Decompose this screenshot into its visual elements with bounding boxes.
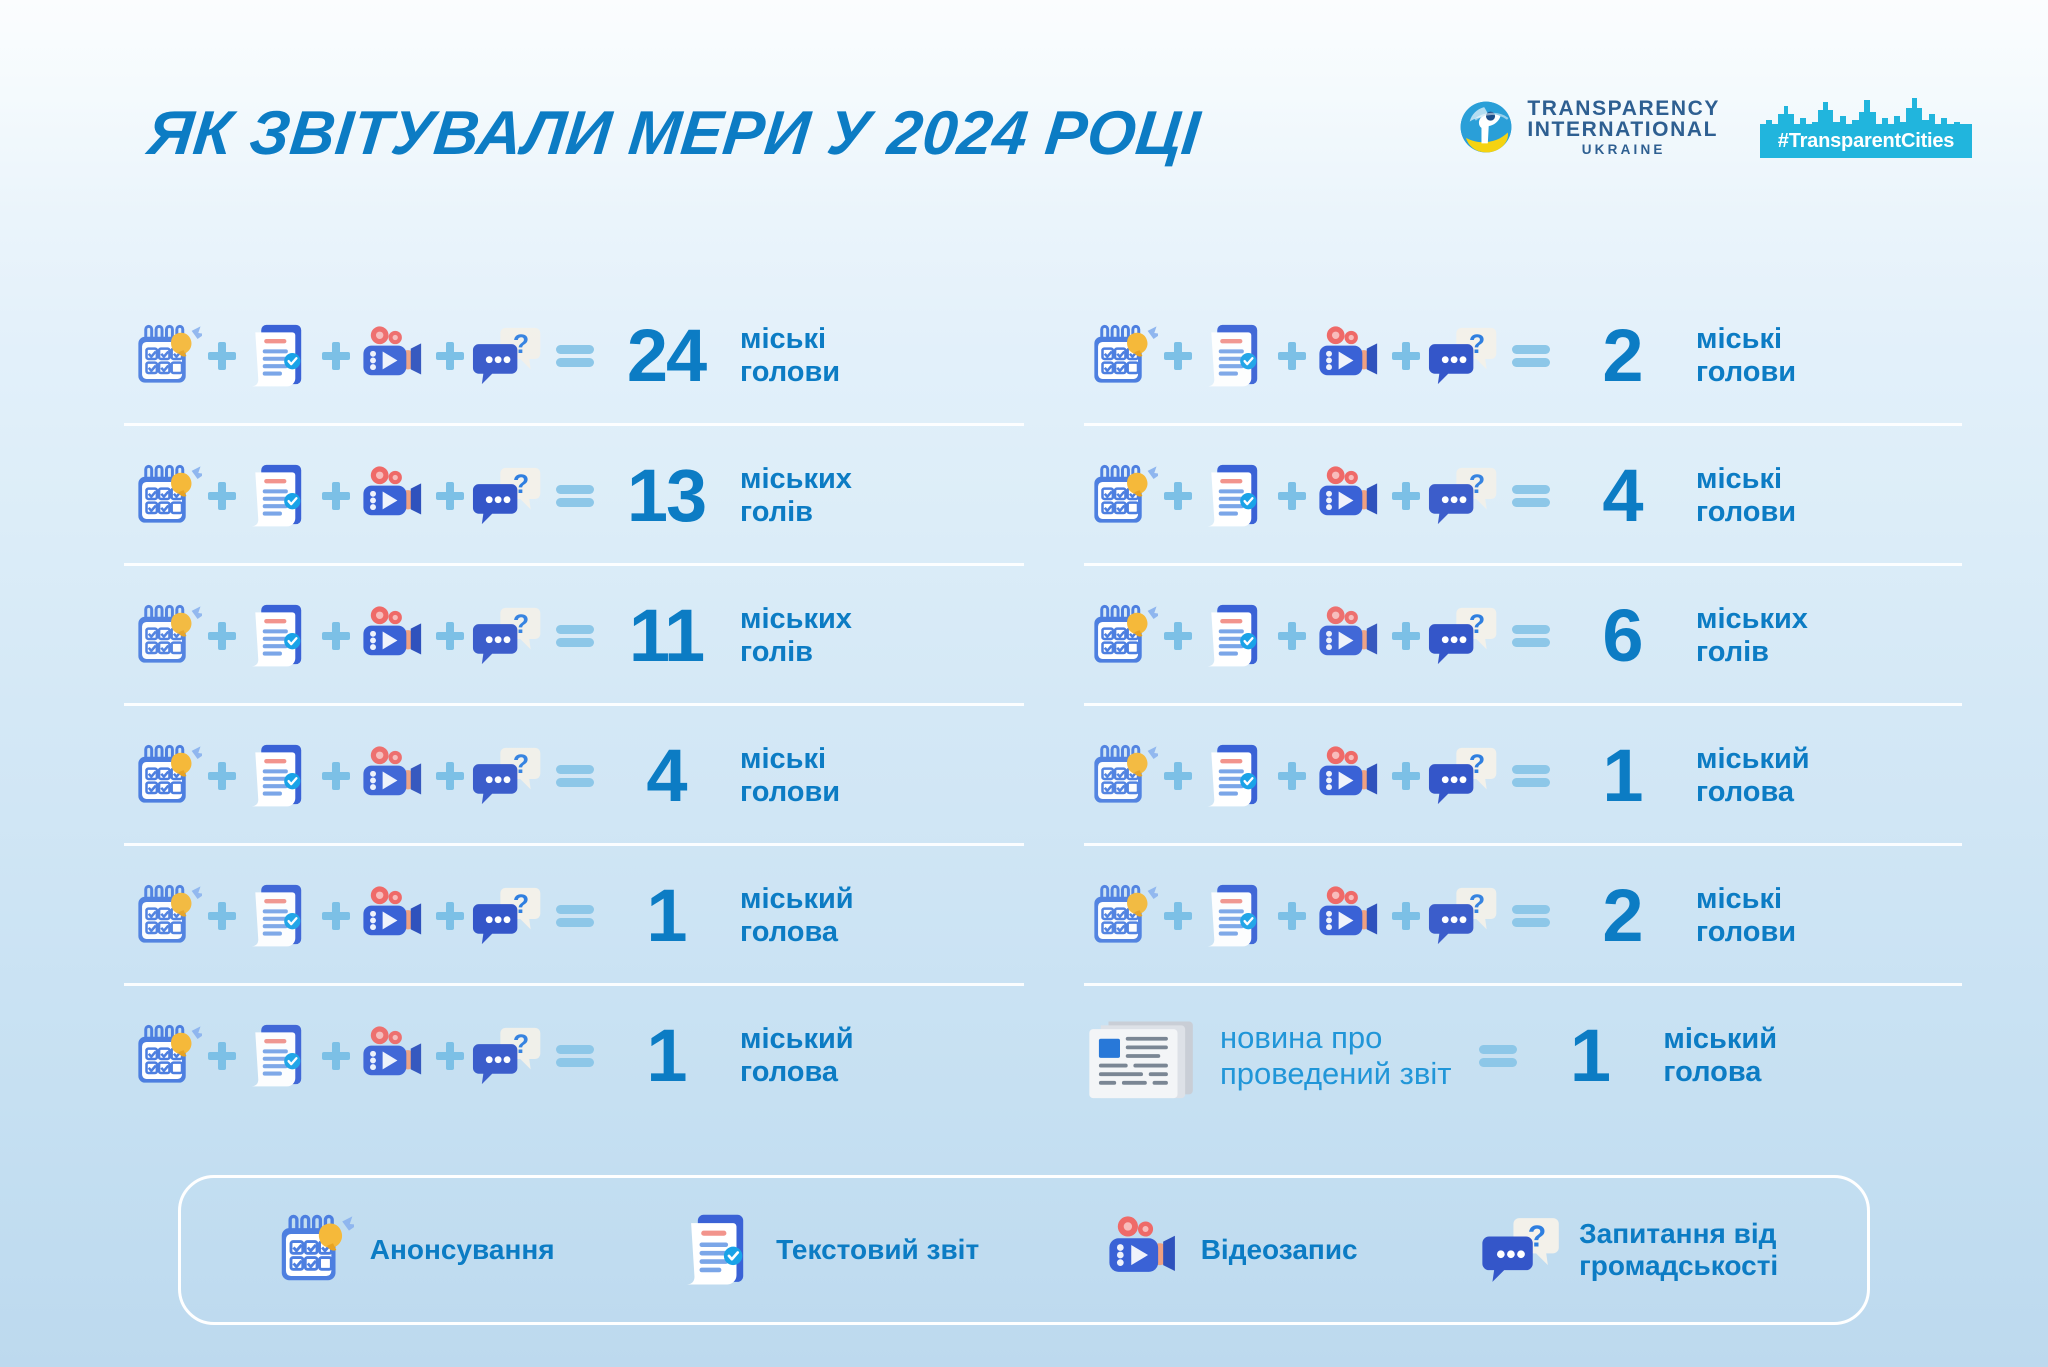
report-row: .p-body{fill:#4d7fe0} .p-rings{stroke:#4… xyxy=(1084,286,2048,426)
questions-icon: .q-dark{fill:#8c8c8c} .q-light{fill:#eee… xyxy=(470,1019,544,1093)
video-icon: .v-body{fill:#3a62d6} .v-reel{fill:#ef6a… xyxy=(356,879,430,953)
questions-icon: .q-dark{fill:#3456c9} .q-light{fill:#f3f… xyxy=(1426,319,1500,393)
icon-formula: .p-body{fill:#4d7fe0} .p-rings{stroke:#4… xyxy=(1084,319,1558,393)
equals-icon xyxy=(554,899,602,933)
questions-icon: .q-dark{fill:#8c8c8c} .q-light{fill:#eee… xyxy=(470,599,544,673)
legend-item-label: Анонсування xyxy=(370,1234,555,1266)
plus-icon xyxy=(430,896,470,936)
report-row: .p-body{fill:#4d7fe0} .p-rings{stroke:#4… xyxy=(128,706,1024,846)
mayor-count-label: міськихголів xyxy=(740,463,852,529)
plus-icon xyxy=(1386,896,1426,936)
announcement-icon: .p-body{fill:#4d7fe0} .p-rings{stroke:#4… xyxy=(128,739,202,813)
plus-icon xyxy=(202,336,242,376)
video-icon: .v-body{fill:#8c8c8c} .v-reel{fill:#c4c4… xyxy=(1312,599,1386,673)
report-row: .p-body{fill:#9a9a9a} .p-rings{stroke:#7… xyxy=(128,286,1024,426)
plus-icon xyxy=(1272,756,1312,796)
header: ЯК ЗВІТУВАЛИ МЕРИ У 2024 РОЦІ TRANSPAREN… xyxy=(0,0,2048,190)
questions-icon: .q-dark{fill:#8c8c8c} .q-light{fill:#eee… xyxy=(470,319,544,393)
mayor-count-label: міськіголови xyxy=(1696,463,1796,529)
news-report-row: новина пропроведений звіт1міськийголова xyxy=(1084,986,2048,1126)
text-report-icon: .r-back{fill:#3a62d6} .r-hl{fill:#f2948c… xyxy=(242,319,316,393)
icon-formula: .p-body{fill:#4d7fe0} .p-rings{stroke:#4… xyxy=(1084,459,1558,533)
text-report-icon: .r-back{fill:#6f6f6f} .r-hl{fill:#c8c8c8… xyxy=(1198,319,1272,393)
icon-formula: .p-body{fill:#9a9a9a} .p-rings{stroke:#7… xyxy=(128,319,602,393)
plus-icon xyxy=(430,476,470,516)
report-row: .p-body{fill:#4d7fe0} .p-rings{stroke:#4… xyxy=(128,426,1024,566)
legend-item-label: Запитання відгромадськості xyxy=(1579,1218,1778,1283)
video-icon: .v-body{fill:#3a62d6} .v-reel{fill:#ef6a… xyxy=(1312,879,1386,953)
legend-item: .q-dark{fill:#3456c9} .q-light{fill:#f3f… xyxy=(1479,1208,1778,1292)
ti-wordmark: TRANSPARENCY INTERNATIONAL UKRAINE xyxy=(1527,98,1720,157)
ti-line-1: TRANSPARENCY xyxy=(1527,98,1720,119)
news-report-label: новина пропроведений звіт xyxy=(1220,1020,1451,1092)
text-report-icon: .r-back{fill:#3a62d6} .r-hl{fill:#f2948c… xyxy=(242,599,316,673)
plus-icon xyxy=(1272,476,1312,516)
plus-icon xyxy=(1158,616,1198,656)
announcement-icon: .p-body{fill:#9a9a9a} .p-rings{stroke:#7… xyxy=(1084,879,1158,953)
mayor-count-label: міськіголови xyxy=(740,323,840,389)
equals-icon xyxy=(554,339,602,373)
report-row: .p-body{fill:#4d7fe0} .p-rings{stroke:#4… xyxy=(128,986,1024,1126)
mayor-count-label: міськийголова xyxy=(1663,1023,1777,1089)
video-icon: .v-body{fill:#3a62d6} .v-reel{fill:#ef6a… xyxy=(1312,739,1386,813)
questions-icon: .q-dark{fill:#3456c9} .q-light{fill:#f3f… xyxy=(470,879,544,953)
equals-icon xyxy=(554,1039,602,1073)
icon-formula: .p-body{fill:#9a9a9a} .p-rings{stroke:#7… xyxy=(1084,739,1558,813)
plus-icon xyxy=(316,1036,356,1076)
mayor-count-label: міськіголови xyxy=(1696,323,1796,389)
mayor-count: 2 xyxy=(1564,879,1680,953)
plus-icon xyxy=(1272,896,1312,936)
equals-icon xyxy=(554,759,602,793)
plus-icon xyxy=(430,616,470,656)
icon-formula: .p-body{fill:#4d7fe0} .p-rings{stroke:#4… xyxy=(128,1019,602,1093)
mayor-count-label: міськихголів xyxy=(1696,603,1808,669)
plus-icon xyxy=(1158,756,1198,796)
mayor-count: 6 xyxy=(1564,599,1680,673)
text-report-icon: .r-back{fill:#3a62d6} .r-hl{fill:#f2948c… xyxy=(676,1208,760,1292)
newspaper-icon xyxy=(1084,1010,1202,1102)
plus-icon xyxy=(430,1036,470,1076)
plus-icon xyxy=(202,756,242,796)
announcement-icon: .p-body{fill:#9a9a9a} .p-rings{stroke:#7… xyxy=(128,599,202,673)
mayor-count: 1 xyxy=(1564,739,1680,813)
plus-icon xyxy=(1158,896,1198,936)
equals-icon xyxy=(1510,339,1558,373)
mayor-count: 1 xyxy=(608,879,724,953)
plus-icon xyxy=(202,476,242,516)
legend-item: .r-back{fill:#3a62d6} .r-hl{fill:#f2948c… xyxy=(676,1208,979,1292)
right-column: .p-body{fill:#4d7fe0} .p-rings{stroke:#4… xyxy=(1024,286,2048,1126)
text-report-icon: .r-back{fill:#3a62d6} .r-hl{fill:#f2948c… xyxy=(1198,599,1272,673)
report-row: .p-body{fill:#9a9a9a} .p-rings{stroke:#7… xyxy=(128,846,1024,986)
plus-icon xyxy=(316,616,356,656)
icon-formula: .p-body{fill:#9a9a9a} .p-rings{stroke:#7… xyxy=(128,879,602,953)
plus-icon xyxy=(316,756,356,796)
plus-icon xyxy=(316,476,356,516)
announcement-icon: .p-body{fill:#4d7fe0} .p-rings{stroke:#4… xyxy=(1084,459,1158,533)
text-report-icon: .r-back{fill:#3a62d6} .r-hl{fill:#f2948c… xyxy=(242,459,316,533)
mayor-count: 13 xyxy=(608,459,724,533)
video-icon: .v-body{fill:#3a62d6} .v-reel{fill:#ef6a… xyxy=(1101,1208,1185,1292)
plus-icon xyxy=(1272,336,1312,376)
announcement-icon: .p-body{fill:#9a9a9a} .p-rings{stroke:#7… xyxy=(128,319,202,393)
plus-icon xyxy=(1386,756,1426,796)
equals-icon xyxy=(1510,619,1558,653)
mayor-count-label: міськийголова xyxy=(1696,743,1810,809)
text-report-icon: .r-back{fill:#6f6f6f} .r-hl{fill:#c8c8c8… xyxy=(242,1019,316,1093)
mayor-count: 1 xyxy=(1531,1019,1647,1093)
announcement-icon: .p-body{fill:#9a9a9a} .p-rings{stroke:#7… xyxy=(1084,739,1158,813)
icon-formula: .p-body{fill:#9a9a9a} .p-rings{stroke:#7… xyxy=(1084,879,1558,953)
page-title: ЯК ЗВІТУВАЛИ МЕРИ У 2024 РОЦІ xyxy=(144,98,1203,169)
text-report-icon: .r-back{fill:#6f6f6f} .r-hl{fill:#c8c8c8… xyxy=(1198,879,1272,953)
questions-icon: .q-dark{fill:#8c8c8c} .q-light{fill:#eee… xyxy=(1426,459,1500,533)
plus-icon xyxy=(1158,336,1198,376)
questions-icon: .q-dark{fill:#3456c9} .q-light{fill:#f3f… xyxy=(1426,739,1500,813)
announcement-icon: .p-body{fill:#4d7fe0} .p-rings{stroke:#4… xyxy=(270,1208,354,1292)
mayor-count-label: міськийголова xyxy=(740,883,854,949)
plus-icon xyxy=(430,756,470,796)
plus-icon xyxy=(1386,336,1426,376)
report-row: .p-body{fill:#4d7fe0} .p-rings{stroke:#4… xyxy=(1084,566,2048,706)
video-icon: .v-body{fill:#8c8c8c} .v-reel{fill:#c4c4… xyxy=(356,319,430,393)
plus-icon xyxy=(202,896,242,936)
report-row: .p-body{fill:#9a9a9a} .p-rings{stroke:#7… xyxy=(1084,706,2048,846)
ti-line-3: UKRAINE xyxy=(1527,143,1720,157)
text-report-icon: .r-back{fill:#3a62d6} .r-hl{fill:#f2948c… xyxy=(1198,459,1272,533)
icon-formula: .p-body{fill:#4d7fe0} .p-rings{stroke:#4… xyxy=(1084,599,1558,673)
announcement-icon: .p-body{fill:#4d7fe0} .p-rings{stroke:#4… xyxy=(1084,319,1158,393)
mayor-count: 1 xyxy=(608,1019,724,1093)
questions-icon: .q-dark{fill:#8c8c8c} .q-light{fill:#eee… xyxy=(1426,879,1500,953)
legend: .p-body{fill:#4d7fe0} .p-rings{stroke:#4… xyxy=(178,1175,1870,1325)
video-icon: .v-body{fill:#8c8c8c} .v-reel{fill:#c4c4… xyxy=(356,1019,430,1093)
mayor-count: 4 xyxy=(608,739,724,813)
report-row: .p-body{fill:#4d7fe0} .p-rings{stroke:#4… xyxy=(1084,426,2048,566)
mayor-count: 24 xyxy=(608,319,724,393)
icon-formula: .p-body{fill:#4d7fe0} .p-rings{stroke:#4… xyxy=(128,459,602,533)
plus-icon xyxy=(1158,476,1198,516)
questions-icon: .q-dark{fill:#3456c9} .q-light{fill:#f3f… xyxy=(1479,1208,1563,1292)
icon-formula: .p-body{fill:#9a9a9a} .p-rings{stroke:#7… xyxy=(128,599,602,673)
video-icon: .v-body{fill:#3a62d6} .v-reel{fill:#ef6a… xyxy=(1312,459,1386,533)
equals-icon xyxy=(1510,479,1558,513)
icon-formula: .p-body{fill:#4d7fe0} .p-rings{stroke:#4… xyxy=(128,739,602,813)
questions-icon: .q-dark{fill:#8c8c8c} .q-light{fill:#eee… xyxy=(470,739,544,813)
left-column: .p-body{fill:#9a9a9a} .p-rings{stroke:#7… xyxy=(0,286,1024,1126)
legend-item-label: Текстовий звіт xyxy=(776,1234,979,1266)
mayor-count: 4 xyxy=(1564,459,1680,533)
report-row: .p-body{fill:#9a9a9a} .p-rings{stroke:#7… xyxy=(1084,846,2048,986)
equals-icon xyxy=(554,619,602,653)
mayor-count: 11 xyxy=(608,599,724,673)
video-icon: .v-body{fill:#8c8c8c} .v-reel{fill:#c4c4… xyxy=(356,739,430,813)
logo-group: TRANSPARENCY INTERNATIONAL UKRAINE #Tran… xyxy=(1457,96,1972,158)
video-icon: .v-body{fill:#3a62d6} .v-reel{fill:#ef6a… xyxy=(356,459,430,533)
legend-item: .v-body{fill:#3a62d6} .v-reel{fill:#ef6a… xyxy=(1101,1208,1358,1292)
tc-hashtag-label: #TransparentCities xyxy=(1778,130,1954,153)
announcement-icon: .p-body{fill:#4d7fe0} .p-rings{stroke:#4… xyxy=(128,1019,202,1093)
text-report-icon: .r-back{fill:#3a62d6} .r-hl{fill:#f2948c… xyxy=(242,739,316,813)
equals-icon xyxy=(554,479,602,513)
video-icon: .v-body{fill:#3a62d6} .v-reel{fill:#ef6a… xyxy=(1312,319,1386,393)
ti-globe-icon xyxy=(1457,98,1515,156)
video-icon: .v-body{fill:#3a62d6} .v-reel{fill:#ef6a… xyxy=(356,599,430,673)
equals-icon xyxy=(1477,1039,1525,1073)
mayor-count-label: міськіголови xyxy=(740,743,840,809)
report-row: .p-body{fill:#9a9a9a} .p-rings{stroke:#7… xyxy=(128,566,1024,706)
mayor-count-label: міськийголова xyxy=(740,1023,854,1089)
ti-line-2: INTERNATIONAL xyxy=(1527,119,1720,140)
legend-item-label: Відеозапис xyxy=(1201,1234,1358,1266)
tc-band: #TransparentCities xyxy=(1760,124,1972,158)
plus-icon xyxy=(1272,616,1312,656)
announcement-icon: .p-body{fill:#9a9a9a} .p-rings{stroke:#7… xyxy=(128,879,202,953)
announcement-icon: .p-body{fill:#4d7fe0} .p-rings{stroke:#4… xyxy=(128,459,202,533)
mayor-count: 2 xyxy=(1564,319,1680,393)
plus-icon xyxy=(430,336,470,376)
transparency-international-logo: TRANSPARENCY INTERNATIONAL UKRAINE xyxy=(1457,98,1720,157)
plus-icon xyxy=(316,336,356,376)
transparent-cities-logo: #TransparentCities xyxy=(1760,96,1972,158)
mayor-count-label: міськихголів xyxy=(740,603,852,669)
plus-icon xyxy=(1386,616,1426,656)
equals-icon xyxy=(1510,759,1558,793)
plus-icon xyxy=(316,896,356,936)
equals-icon xyxy=(1510,899,1558,933)
plus-icon xyxy=(202,616,242,656)
questions-icon: .q-dark{fill:#3456c9} .q-light{fill:#f3f… xyxy=(1426,599,1500,673)
text-report-icon: .r-back{fill:#6f6f6f} .r-hl{fill:#c8c8c8… xyxy=(242,879,316,953)
questions-icon: .q-dark{fill:#3456c9} .q-light{fill:#f3f… xyxy=(470,459,544,533)
announcement-icon: .p-body{fill:#4d7fe0} .p-rings{stroke:#4… xyxy=(1084,599,1158,673)
mayor-count-label: міськіголови xyxy=(1696,883,1796,949)
text-report-icon: .r-back{fill:#3a62d6} .r-hl{fill:#f2948c… xyxy=(1198,739,1272,813)
plus-icon xyxy=(1386,476,1426,516)
report-grid: .p-body{fill:#9a9a9a} .p-rings{stroke:#7… xyxy=(0,286,2048,1126)
legend-item: .p-body{fill:#4d7fe0} .p-rings{stroke:#4… xyxy=(270,1208,555,1292)
plus-icon xyxy=(202,1036,242,1076)
